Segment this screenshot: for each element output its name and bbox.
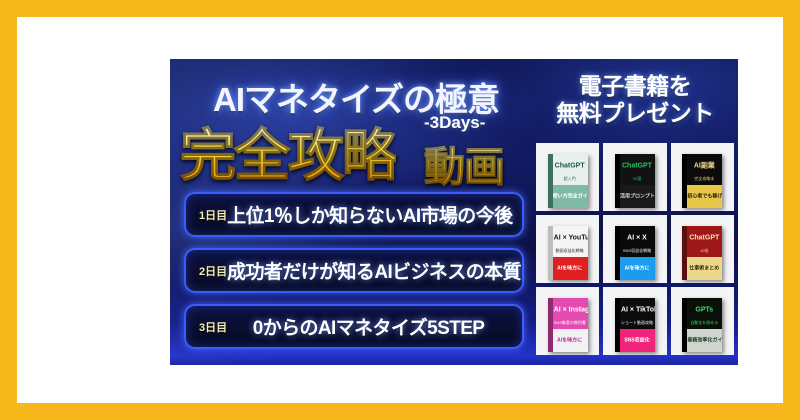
ebook-tagline: SNS収益化	[620, 338, 654, 344]
ebook-cell[interactable]: AI副業完全攻略本初心者でも稼げる	[671, 143, 734, 211]
ebook-cell[interactable]: AI × InstagramSNS集客の教科書AIを味方に	[536, 287, 599, 355]
promo-banner: AIマネタイズの極意 完全攻略 -3Days- 動画 1日目 上位1％しか知らな…	[170, 59, 738, 365]
day-badge: 2日目	[199, 263, 227, 279]
ebook-cell[interactable]: AI × XSNS収益化戦略AIを味方に	[603, 215, 666, 283]
ebook-cover: AI副業完全攻略本初心者でも稼げる	[682, 154, 722, 208]
ebook-tagline: 初心者でも稼げる	[687, 194, 721, 200]
ebook-spine	[548, 226, 553, 280]
page-content-area: AIマネタイズの極意 完全攻略 -3Days- 動画 1日目 上位1％しか知らな…	[17, 17, 783, 403]
ebook-cover-bottom: 業務効率化ガイド	[682, 329, 722, 352]
banner-subheadline: 完全攻略	[180, 111, 396, 192]
ebook-subtitle: ショート動画攻略	[621, 321, 653, 325]
ebook-grid: ChatGPT超入門使い方完全ガイドChatGPT50選活用プロンプト集AI副業…	[536, 143, 734, 355]
ebook-cover-bottom: SNS収益化	[615, 329, 655, 352]
banner-days-label: -3Days-	[424, 113, 485, 133]
ebook-subtitle: SNS収益化戦略	[621, 249, 653, 253]
ebook-subtitle: SNS集客の教科書	[554, 321, 586, 325]
ebook-tagline: AIを味方に	[620, 266, 654, 272]
ebook-cell[interactable]: AI × TikTokショート動画攻略SNS収益化	[603, 287, 666, 355]
list-item[interactable]: 3日目 0からのAIマネタイズ5STEP	[184, 304, 524, 349]
day-topic: 上位1％しか知らないAI市場の今後	[227, 201, 524, 228]
day-badge: 1日目	[199, 207, 227, 223]
ebook-cover-top: AI × YouTube動画収益化戦略	[548, 226, 588, 257]
ebook-cover: ChatGPT超入門使い方完全ガイド	[548, 154, 588, 208]
ebook-cover-bottom: AIを味方に	[548, 257, 588, 280]
ebook-cover-bottom: AIを味方に	[615, 257, 655, 280]
ebook-cell[interactable]: GPTs自動化を極める業務効率化ガイド	[671, 287, 734, 355]
ebook-spine	[682, 298, 687, 352]
ebook-cover: GPTs自動化を極める業務効率化ガイド	[682, 298, 722, 352]
ebook-cover-top: GPTs自動化を極める	[682, 298, 722, 329]
ebook-subtitle: 完全攻略本	[688, 177, 720, 181]
ebook-title: ChatGPT	[688, 234, 720, 241]
day-badge: 3日目	[199, 319, 227, 335]
ebook-title: AI × TikTok	[621, 306, 653, 313]
ebook-cell[interactable]: ChatGPT10倍仕事術まとめ	[671, 215, 734, 283]
ebook-cover-bottom: 初心者でも稼げる	[682, 185, 722, 208]
ebook-cover: ChatGPT50選活用プロンプト集	[615, 154, 655, 208]
ebook-tagline: 業務効率化ガイド	[687, 338, 721, 344]
curriculum-list: 1日目 上位1％しか知らないAI市場の今後 2日目 成功者だけが知るAIビジネス…	[184, 192, 524, 360]
ebook-subtitle: 10倍	[688, 249, 720, 253]
banner-left-column: AIマネタイズの極意 完全攻略 -3Days- 動画 1日目 上位1％しか知らな…	[176, 59, 528, 365]
ebook-tagline: 仕事術まとめ	[687, 266, 721, 272]
ebook-title: GPTs	[688, 306, 720, 313]
ebook-title: AI × YouTube	[554, 234, 586, 241]
ebook-cell[interactable]: AI × YouTube動画収益化戦略AIを味方に	[536, 215, 599, 283]
day-topic: 0からのAIマネタイズ5STEP	[227, 313, 522, 340]
ebook-subtitle: 超入門	[554, 177, 586, 181]
ebook-title: ChatGPT	[554, 162, 586, 169]
ebook-tagline: AIを味方に	[553, 338, 587, 344]
ebook-cell[interactable]: ChatGPT50選活用プロンプト集	[603, 143, 666, 211]
ebook-spine	[615, 154, 620, 208]
ebook-cover-bottom: AIを味方に	[548, 329, 588, 352]
ebook-cover: AI × TikTokショート動画攻略SNS収益化	[615, 298, 655, 352]
ebook-cover-top: AI × TikTokショート動画攻略	[615, 298, 655, 329]
banner-right-column: 電子書籍を 無料プレゼント ChatGPT超入門使い方完全ガイドChatGPT5…	[532, 59, 738, 365]
ebook-cover-top: AI副業完全攻略本	[682, 154, 722, 185]
page-border: AIマネタイズの極意 完全攻略 -3Days- 動画 1日目 上位1％しか知らな…	[0, 0, 800, 420]
ebook-cover-top: AI × InstagramSNS集客の教科書	[548, 298, 588, 329]
ebook-spine	[615, 298, 620, 352]
ebook-title: ChatGPT	[621, 162, 653, 169]
ebook-cover-bottom: 活用プロンプト集	[615, 185, 655, 208]
ebook-subtitle: 動画収益化戦略	[554, 249, 586, 253]
ebook-subtitle: 自動化を極める	[688, 321, 720, 325]
list-item[interactable]: 1日目 上位1％しか知らないAI市場の今後	[184, 192, 524, 237]
ebook-cover: AI × InstagramSNS集客の教科書AIを味方に	[548, 298, 588, 352]
ebook-cover-bottom: 使い方完全ガイド	[548, 185, 588, 208]
ebook-cell[interactable]: ChatGPT超入門使い方完全ガイド	[536, 143, 599, 211]
ebook-tagline: 活用プロンプト集	[620, 194, 654, 200]
ebook-subtitle: 50選	[621, 177, 653, 181]
ebook-cover: AI × XSNS収益化戦略AIを味方に	[615, 226, 655, 280]
ebook-spine	[548, 298, 553, 352]
ebook-title: AI × X	[621, 234, 653, 241]
list-item[interactable]: 2日目 成功者だけが知るAIビジネスの本質	[184, 248, 524, 293]
day-topic: 成功者だけが知るAIビジネスの本質	[227, 257, 533, 284]
ebook-spine	[682, 154, 687, 208]
ebook-cover-bottom: 仕事術まとめ	[682, 257, 722, 280]
ebook-spine	[682, 226, 687, 280]
gift-heading-line2: 無料プレゼント	[532, 100, 738, 127]
banner-video-label: 動画	[424, 133, 504, 193]
ebook-cover-top: ChatGPT50選	[615, 154, 655, 185]
gift-heading: 電子書籍を 無料プレゼント	[532, 73, 738, 127]
gift-heading-line1: 電子書籍を	[532, 73, 738, 100]
ebook-spine	[615, 226, 620, 280]
ebook-cover-top: ChatGPT10倍	[682, 226, 722, 257]
ebook-cover-top: AI × XSNS収益化戦略	[615, 226, 655, 257]
ebook-spine	[548, 154, 553, 208]
ebook-title: AI副業	[688, 162, 720, 169]
ebook-cover: AI × YouTube動画収益化戦略AIを味方に	[548, 226, 588, 280]
ebook-tagline: 使い方完全ガイド	[553, 194, 587, 200]
ebook-tagline: AIを味方に	[553, 266, 587, 272]
ebook-cover: ChatGPT10倍仕事術まとめ	[682, 226, 722, 280]
ebook-title: AI × Instagram	[554, 306, 586, 313]
banner-subheadline-group: 完全攻略 -3Days- 動画	[176, 111, 528, 183]
ebook-cover-top: ChatGPT超入門	[548, 154, 588, 185]
